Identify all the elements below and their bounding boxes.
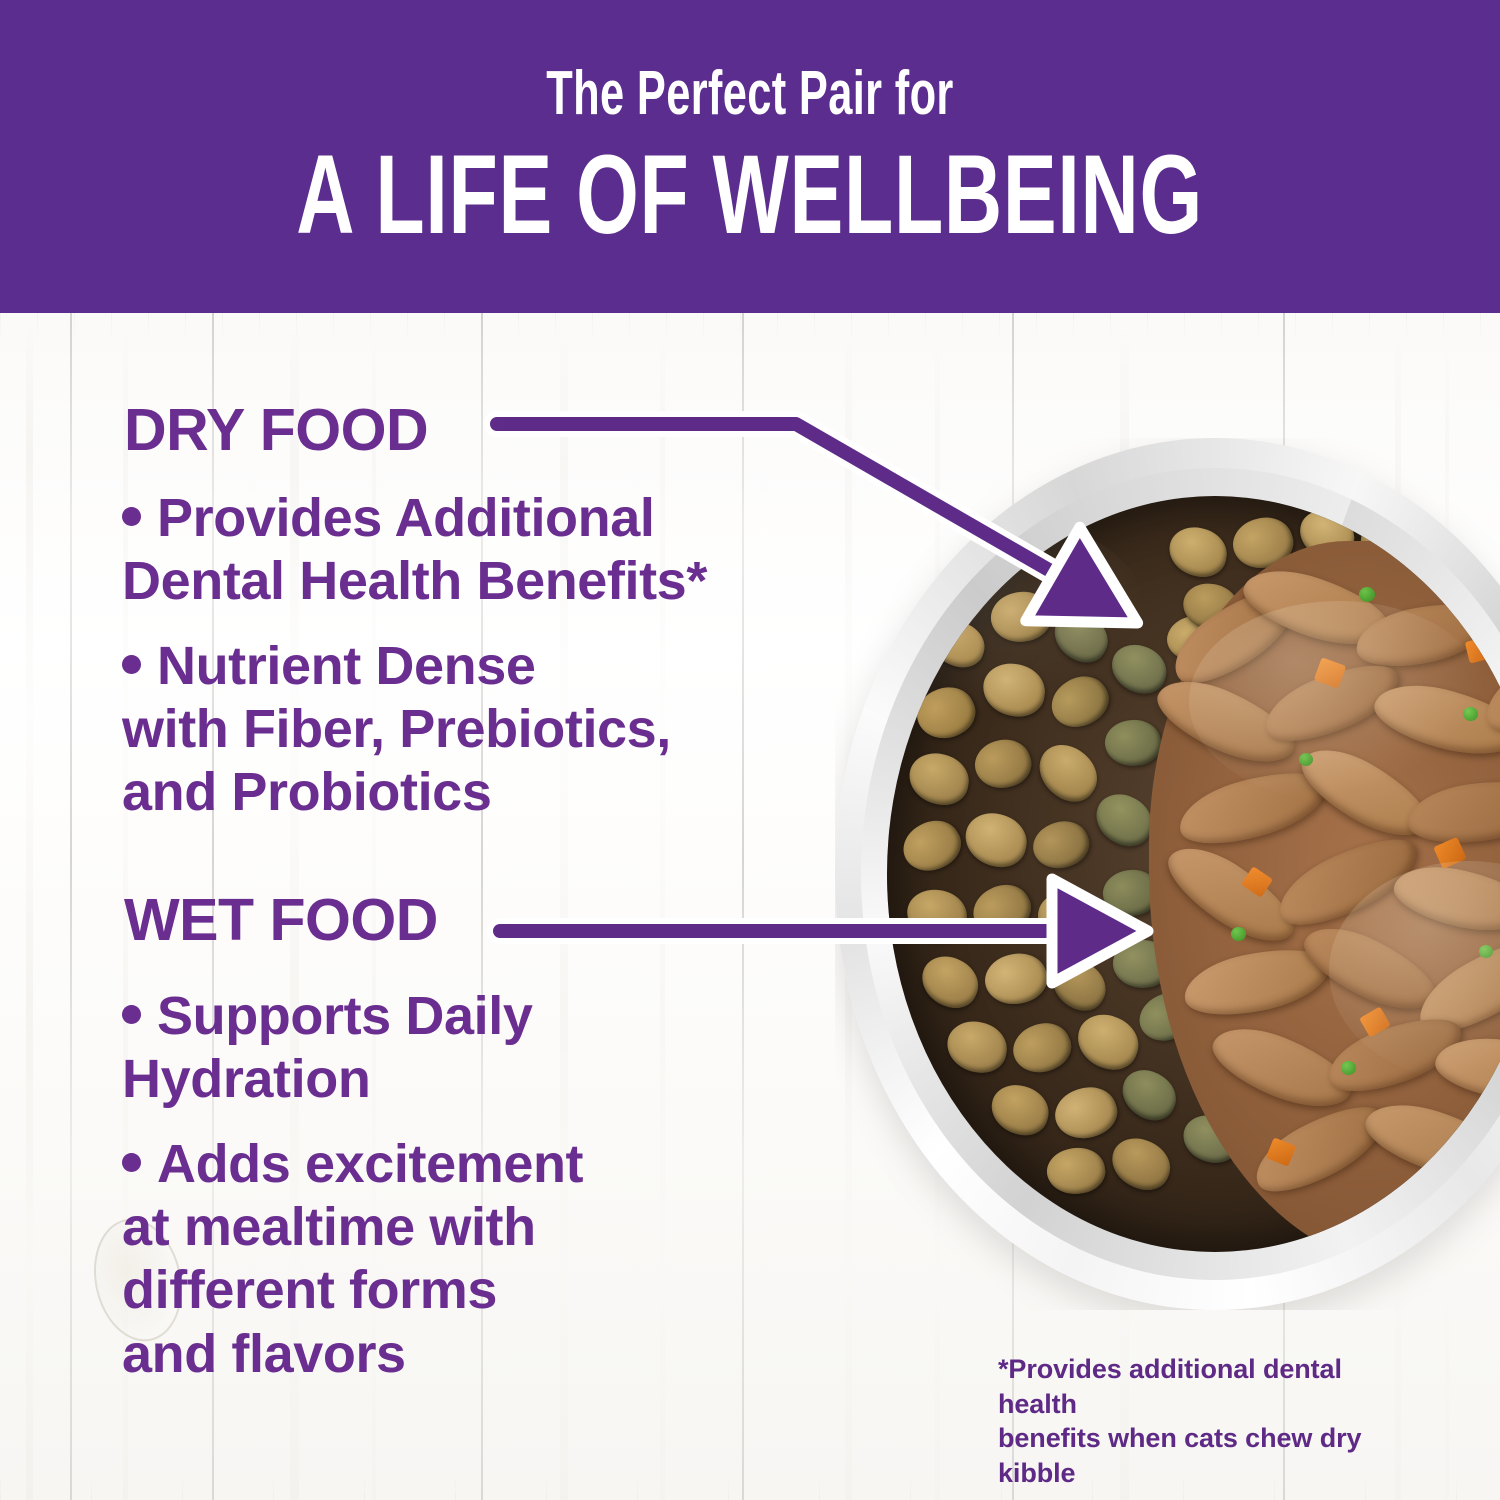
- bullet-wet-1: Supports Daily Hydration: [122, 985, 822, 1111]
- bullet-wet-2: Adds excitement at mealtime with differe…: [122, 1133, 822, 1386]
- bullet-dry-2: Nutrient Dense with Fiber, Prebiotics, a…: [122, 635, 822, 825]
- bullet-dot: [122, 655, 141, 674]
- section-heading-dry-food: DRY FOOD: [124, 401, 428, 460]
- bullet-dry-1: Provides Additional Dental Health Benefi…: [122, 487, 822, 613]
- header-banner: The Perfect Pair for A LIFE OF WELLBEING: [0, 0, 1500, 313]
- poster-canvas: The Perfect Pair for A LIFE OF WELLBEING: [0, 0, 1500, 1500]
- footnote-disclaimer: *Provides additional dental health benef…: [998, 1352, 1428, 1490]
- content-layer: DRY FOOD Provides Additional Dental Heal…: [0, 313, 1500, 1500]
- bullet-dot: [122, 507, 141, 526]
- section-heading-wet-food: WET FOOD: [124, 891, 438, 950]
- bullet-dot: [122, 1005, 141, 1024]
- bullet-dot: [122, 1153, 141, 1172]
- header-subtitle: The Perfect Pair for: [546, 63, 953, 125]
- header-title: A LIFE OF WELLBEING: [297, 139, 1204, 251]
